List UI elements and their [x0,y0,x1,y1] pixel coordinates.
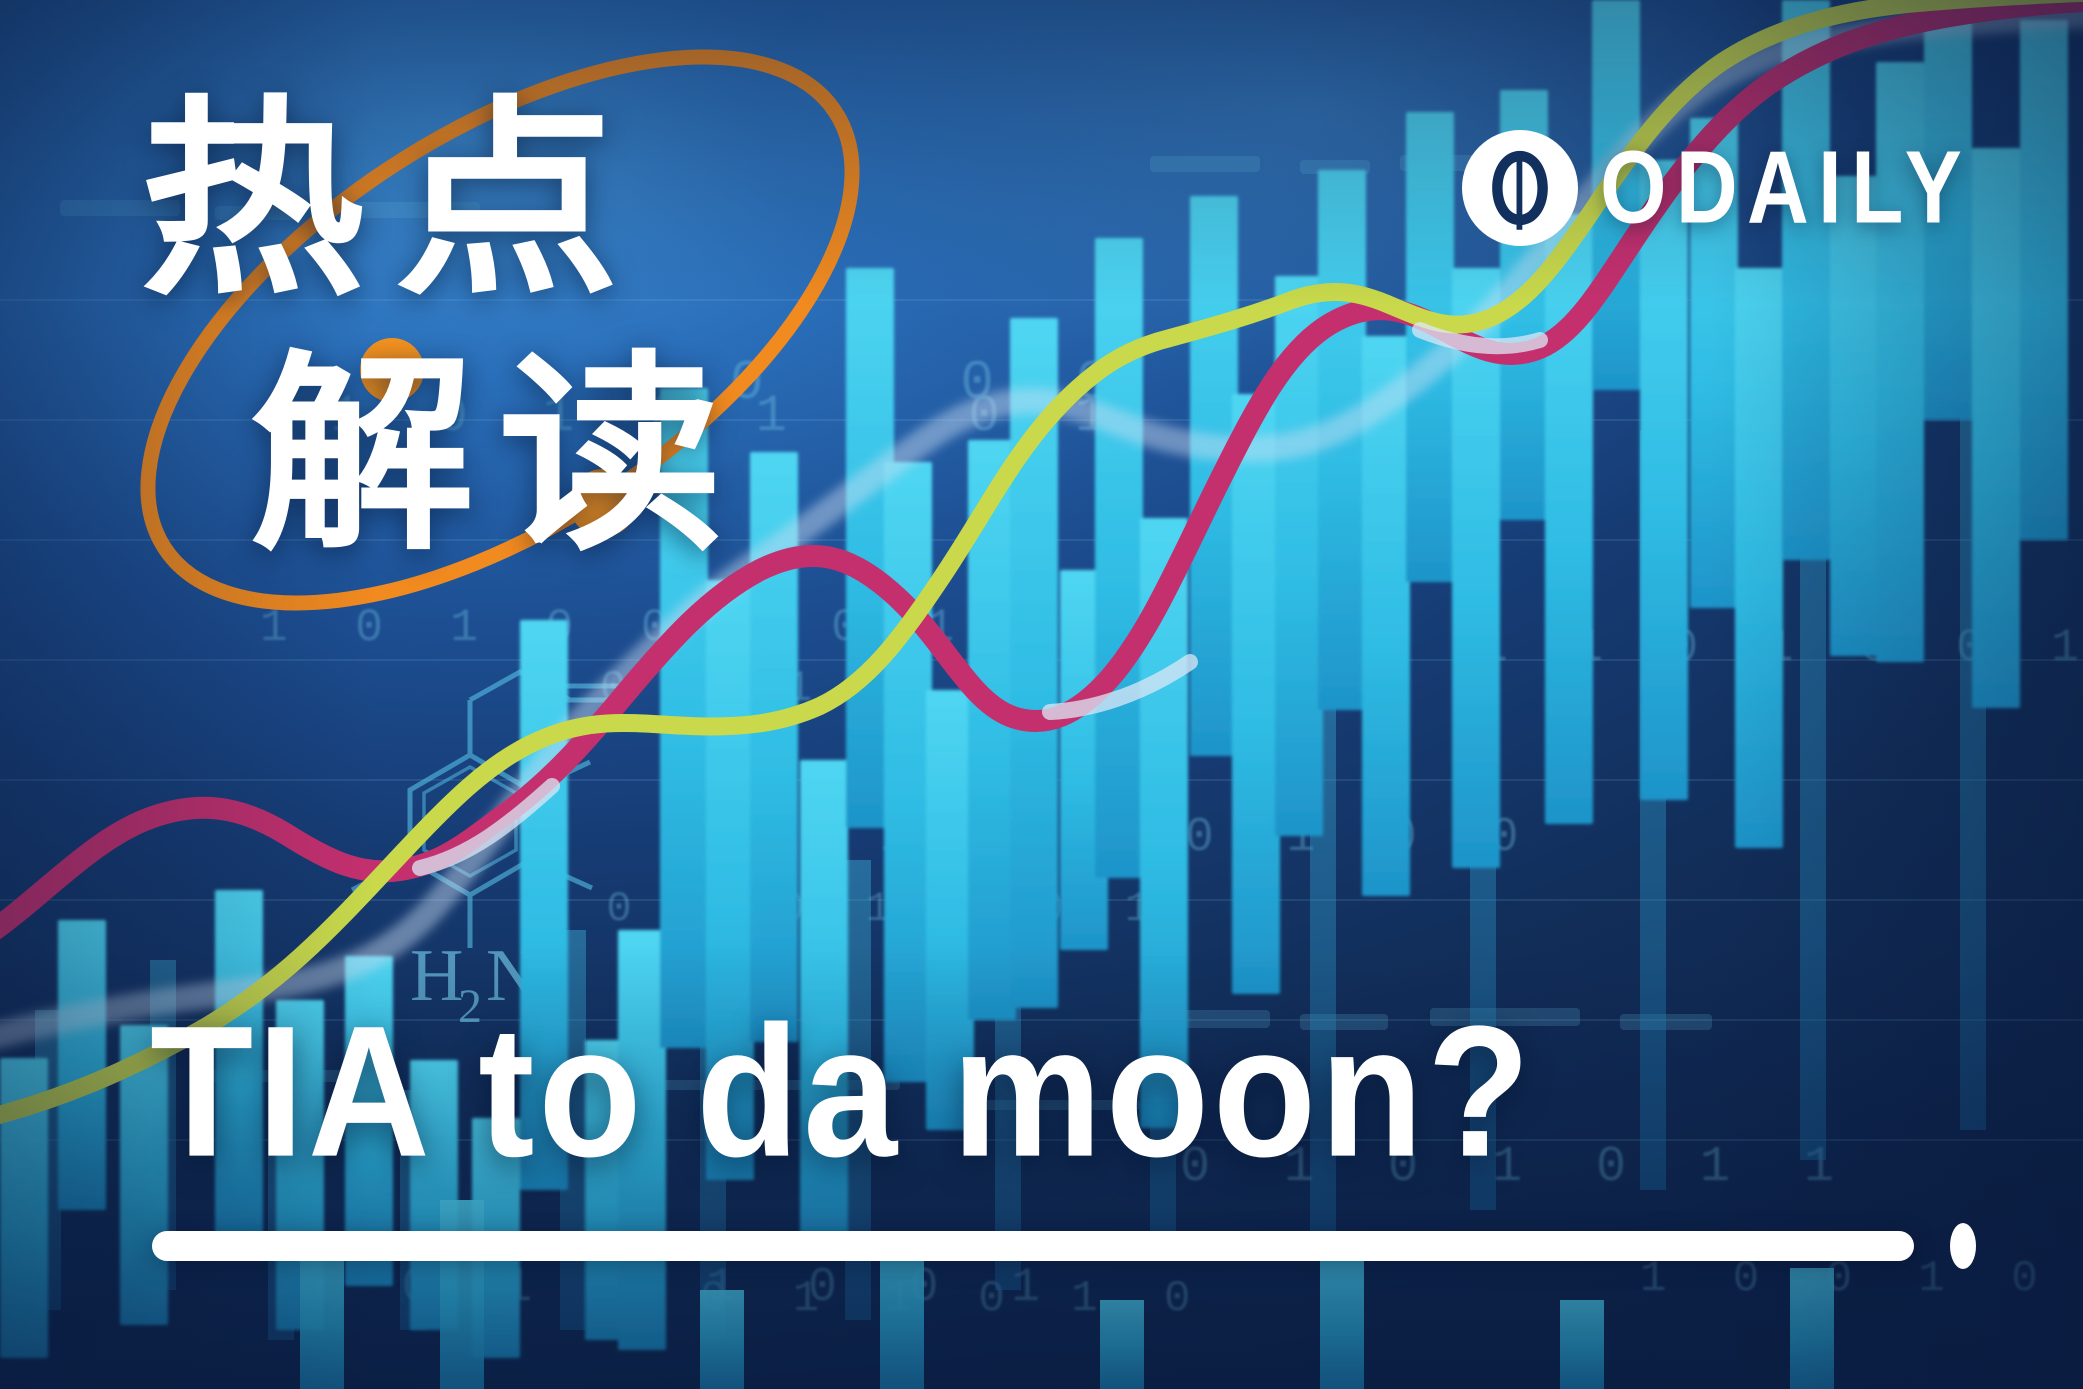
title-underline-bar [152,1231,1914,1261]
headline-line-2: 解读 [250,350,746,562]
odaily-wordmark: ODAILY [1600,129,1971,247]
odaily-phi-circle-icon [1462,130,1578,246]
title-underline-dot [1950,1223,1976,1269]
cover-image: 1 0 1 0 1 1 0 1 0 1 0 0 1 1 0 1 0 1 0 0 … [0,0,2083,1389]
odaily-logo[interactable]: ODAILY [1462,130,1999,246]
headline-line-1: 热点 [140,95,649,307]
page-title: TIA to da moon? [150,985,1534,1199]
